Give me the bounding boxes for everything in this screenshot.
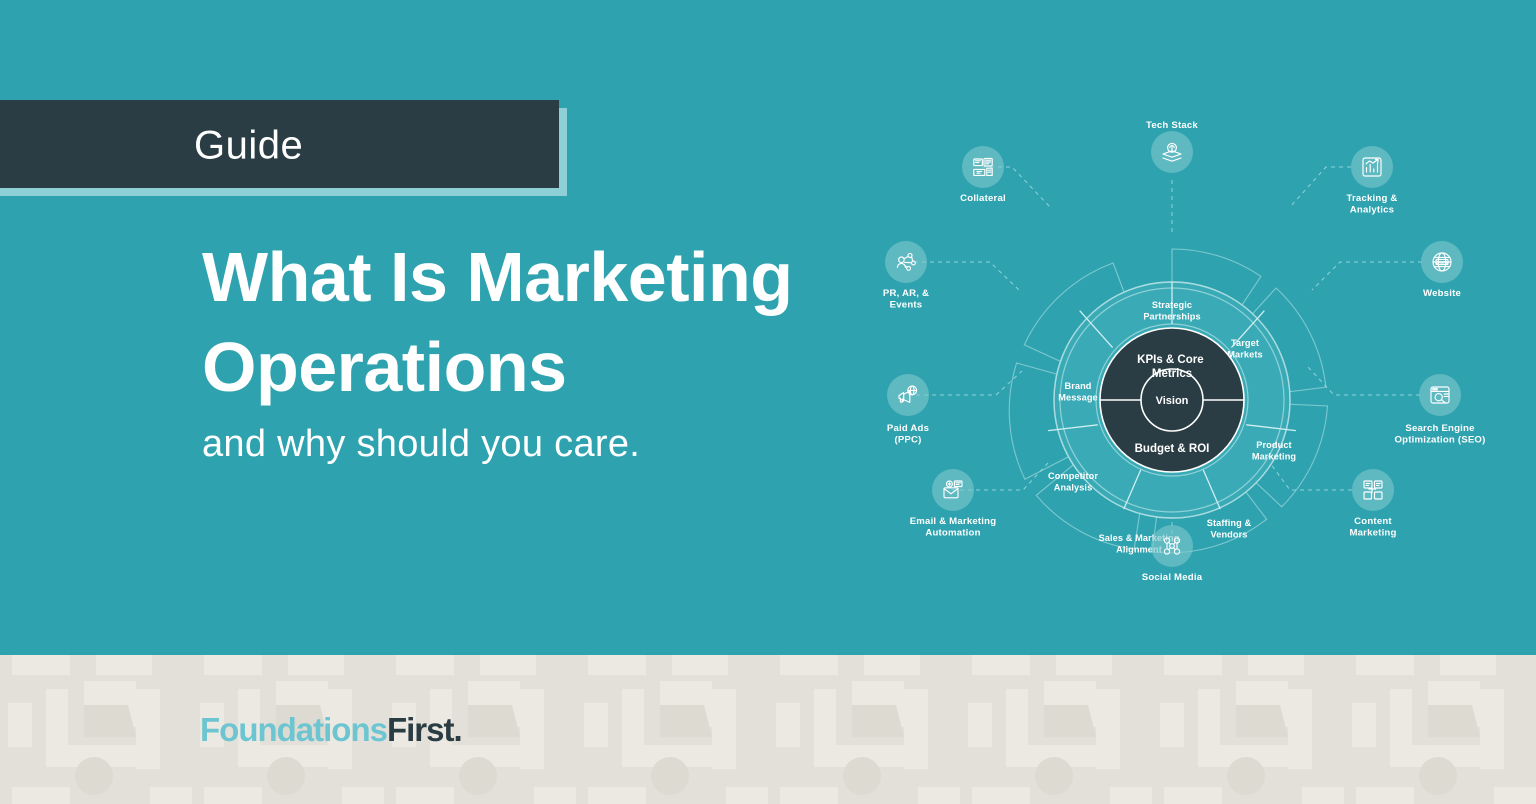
page-title: What Is Marketing Operations [202, 232, 882, 412]
outer-node-label-website: Website [1423, 288, 1461, 299]
outer-node-tracking-analytics[interactable]: Tracking &Analytics [1346, 146, 1397, 216]
outer-node-label-seo: Search EngineOptimization (SEO) [1394, 423, 1485, 446]
middle-ring-label-target-markets: TargetMarkets [1227, 338, 1262, 360]
core-label-vision: Vision [1156, 395, 1189, 407]
outer-node-label-content-marketing: ContentMarketing [1349, 516, 1396, 539]
outer-node-content-marketing[interactable]: ContentMarketing [1349, 469, 1396, 539]
page-subtitle: and why should you care. [202, 423, 640, 466]
outer-node-label-tracking-analytics: Tracking &Analytics [1346, 193, 1397, 216]
core-label-budget-roi: Budget & ROI [1135, 443, 1210, 455]
middle-ring-label-competitor-analysis: CompetitorAnalysis [1048, 471, 1098, 493]
hero-section: Guide What Is Marketing Operations and w… [0, 0, 1536, 655]
diagram-core: KPIs & Core Metrics Vision Budget & ROI [1100, 328, 1244, 472]
middle-ring-label-staffing-vendors: Staffing &Vendors [1207, 518, 1252, 540]
middle-ring-label-strategic-partnerships: StrategicPartnerships [1143, 300, 1200, 322]
outer-node-paid-ads[interactable]: Paid Ads(PPC) [887, 374, 929, 446]
footer-bar: FoundationsFirst. [0, 655, 1536, 804]
brand-logo-foundations: Foundations [200, 711, 387, 748]
brand-logo[interactable]: FoundationsFirst. [200, 711, 462, 749]
outer-node-pr-ar-events[interactable]: PR, AR, &Events [883, 241, 929, 311]
outer-node-email-automation[interactable]: Email & MarketingAutomation [910, 469, 997, 539]
guide-badge-label: Guide [194, 124, 303, 169]
outer-node-collateral[interactable]: Collateral [960, 146, 1006, 204]
headline-line-2: Operations [202, 322, 882, 412]
outer-node-website[interactable]: Website [1421, 241, 1463, 299]
outer-node-seo[interactable]: Search EngineOptimization (SEO) [1394, 374, 1485, 446]
headline-line-1: What Is Marketing [202, 232, 882, 322]
outer-node-label-pr-ar-events: PR, AR, &Events [883, 288, 929, 311]
guide-badge: Guide [0, 100, 567, 192]
outer-node-label-tech-stack: Tech Stack [1146, 120, 1198, 131]
outer-node-label-social-media: Social Media [1142, 572, 1203, 583]
brand-logo-first: First. [387, 711, 462, 748]
middle-ring-label-product-marketing: ProductMarketing [1252, 440, 1296, 462]
outer-node-label-paid-ads: Paid Ads(PPC) [887, 423, 929, 446]
outer-node-label-collateral: Collateral [960, 193, 1006, 204]
outer-node-label-email-automation: Email & MarketingAutomation [910, 516, 997, 539]
marketing-operations-diagram: WWW [860, 95, 1520, 605]
outer-node-tech-stack[interactable]: Tech Stack [1146, 120, 1198, 173]
